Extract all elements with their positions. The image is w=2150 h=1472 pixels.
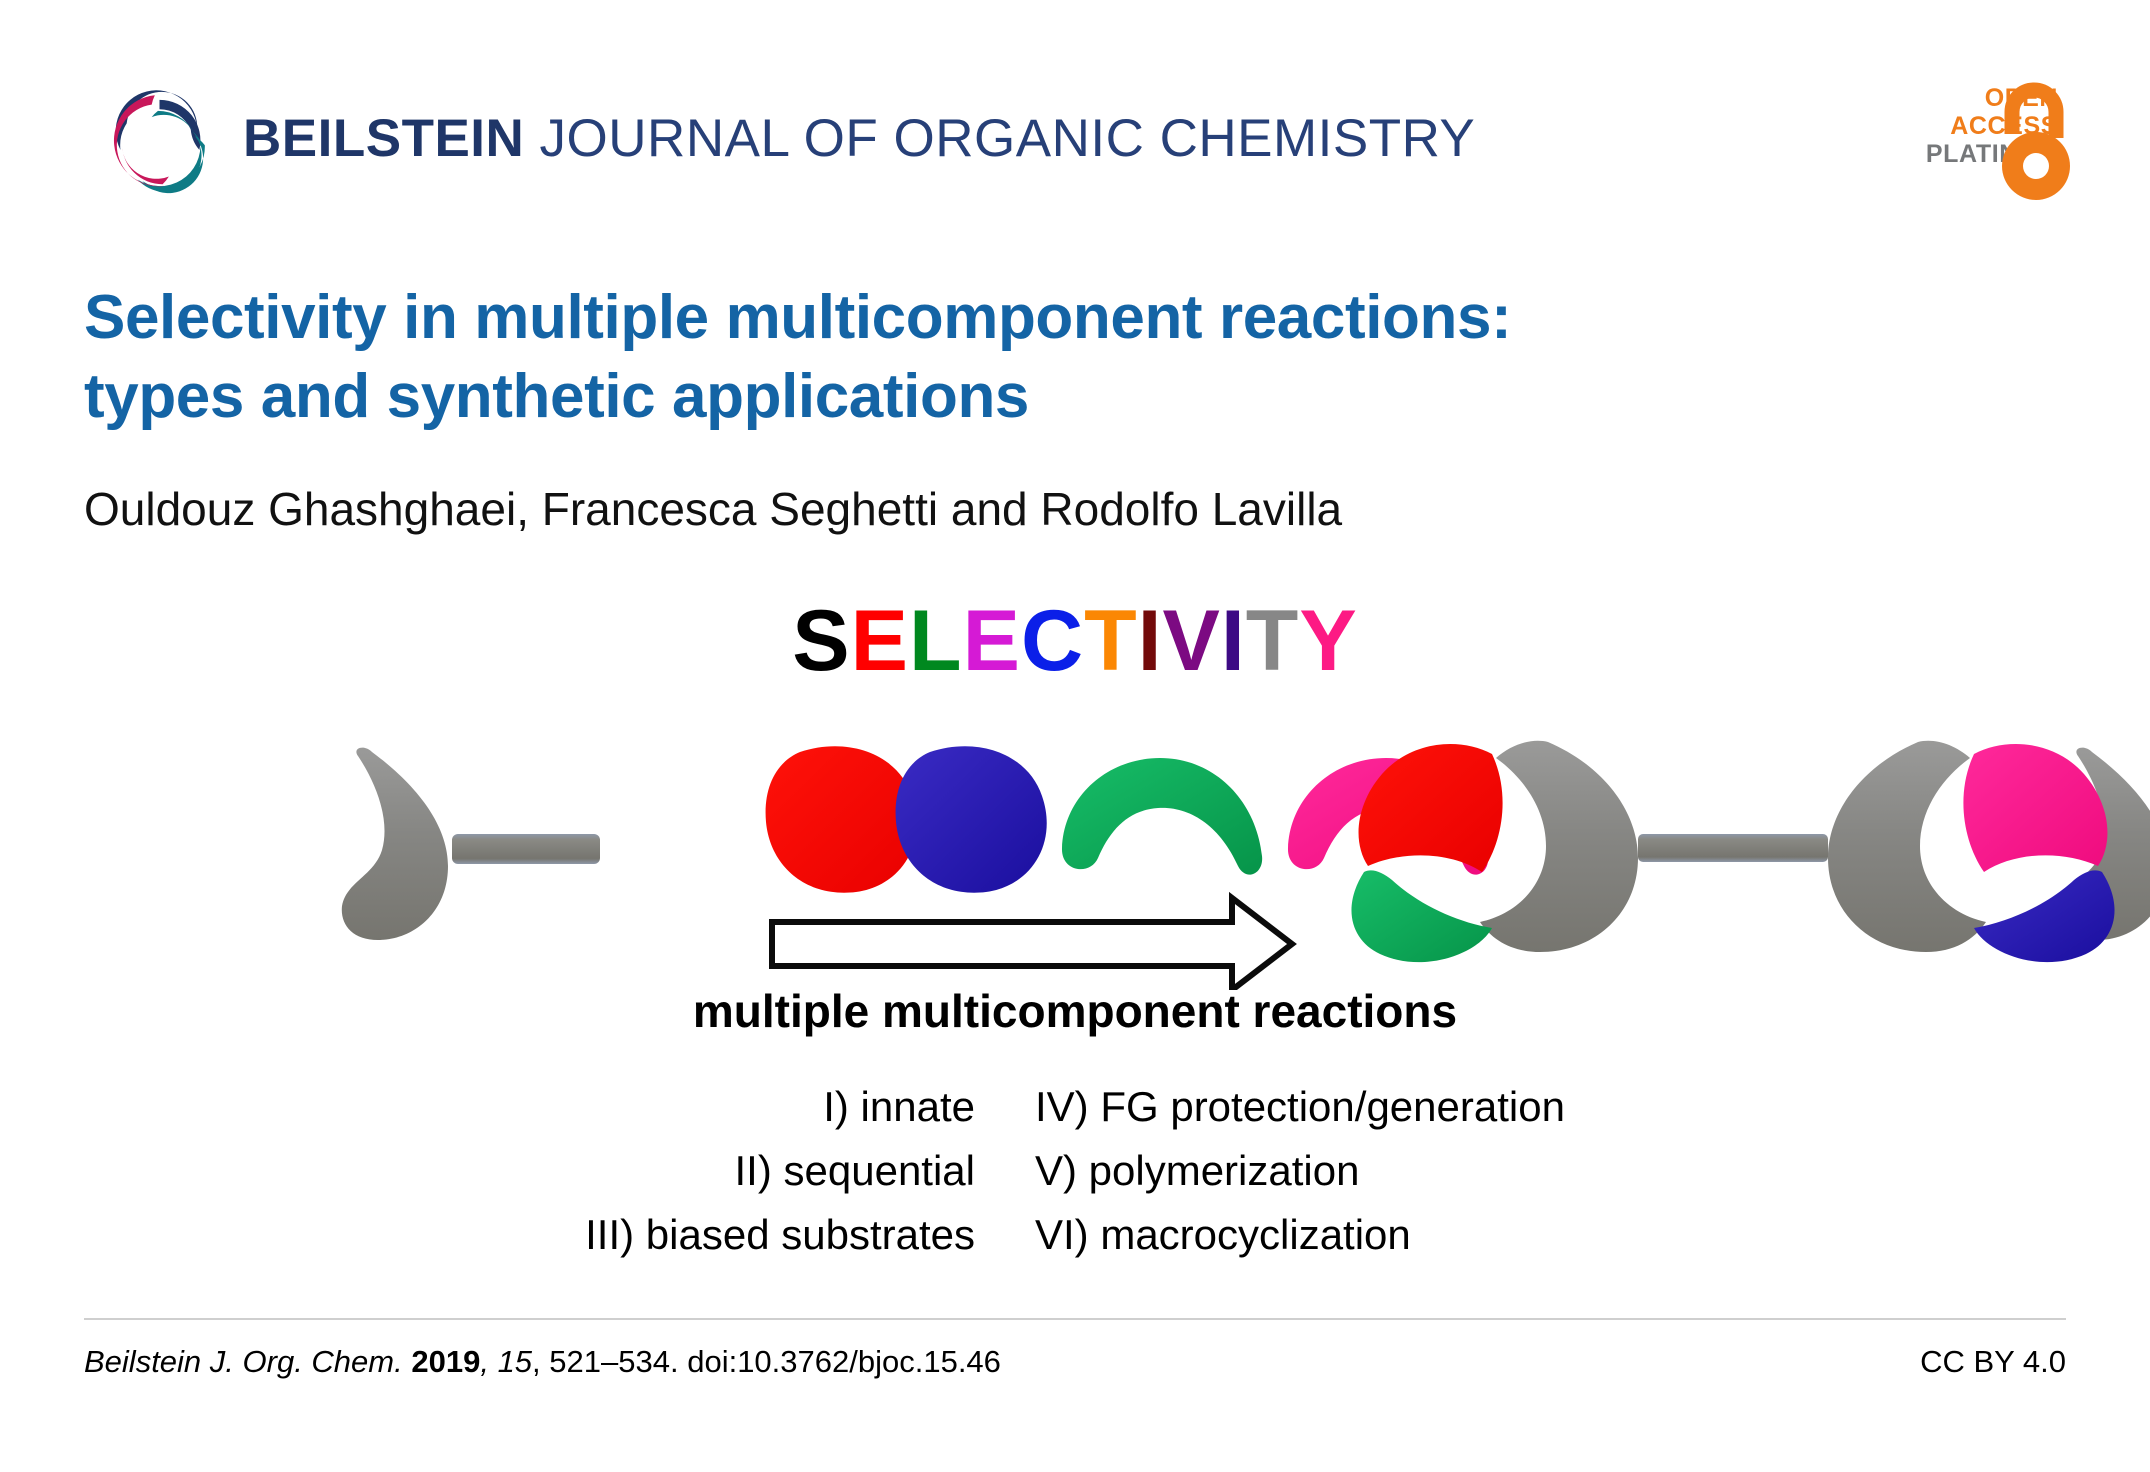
list-item: I) innate <box>823 1075 975 1139</box>
type-list-left-column: I) innate II) sequential III) biased sub… <box>555 1075 975 1266</box>
wordmark-letter-8: I <box>1221 592 1246 691</box>
reagent-blob-green <box>1062 758 1262 875</box>
wordmark-letter-7: V <box>1163 592 1221 691</box>
reaction-scheme <box>0 700 2150 990</box>
author-list: Ouldouz Ghashghaei, Francesca Seghetti a… <box>84 482 1342 536</box>
reagent-blob-red <box>766 746 917 893</box>
beilstein-logo <box>82 78 237 203</box>
wordmark-letter-10: Y <box>1299 592 1357 691</box>
list-item: V) polymerization <box>1035 1139 1359 1203</box>
selectivity-type-list: I) innate II) sequential III) biased sub… <box>0 1075 2150 1266</box>
product-bond <box>1638 834 1828 862</box>
list-item: III) biased substrates <box>585 1203 975 1267</box>
reagent-blob-blue <box>896 746 1047 893</box>
product-gray-piece-left <box>1480 741 1638 952</box>
wordmark-letter-6: I <box>1138 592 1163 691</box>
reaction-arrow <box>772 898 1292 990</box>
citation: Beilstein J. Org. Chem. 2019, 15, 521–53… <box>84 1344 1001 1380</box>
wordmark-letter-2: L <box>909 592 963 691</box>
license-label: CC BY 4.0 <box>1920 1344 2066 1380</box>
page-title: Selectivity in multiple multicomponent r… <box>84 278 1784 437</box>
crescent-left <box>342 748 448 940</box>
wordmark-letter-9: T <box>1246 592 1300 691</box>
journal-name: BEILSTEIN JOURNAL OF ORGANIC CHEMISTRY <box>243 108 1475 169</box>
substrate-bond <box>452 834 600 864</box>
journal-name-bold: BEILSTEIN <box>243 109 524 168</box>
wordmark-letter-3: E <box>963 592 1021 691</box>
citation-volume: 15 <box>498 1344 532 1379</box>
open-padlock-icon <box>1992 78 2078 206</box>
citation-journal: Beilstein J. Org. Chem. <box>84 1344 403 1379</box>
title-line-2: types and synthetic applications <box>84 357 1784 436</box>
product-sphere-left <box>1351 741 1638 962</box>
product-gray-piece-right <box>1828 741 1986 952</box>
citation-comma-2: , <box>532 1344 541 1379</box>
masthead: BEILSTEIN JOURNAL OF ORGANIC CHEMISTRY O… <box>0 0 2150 230</box>
wordmark-letter-5: T <box>1084 592 1138 691</box>
product-complex <box>1351 741 2114 962</box>
title-line-1: Selectivity in multiple multicomponent r… <box>84 278 1784 357</box>
list-item: II) sequential <box>735 1139 975 1203</box>
footer-divider <box>84 1318 2066 1320</box>
type-list-right-column: IV) FG protection/generation V) polymeri… <box>1035 1075 1595 1266</box>
selectivity-wordmark: SELECTIVITY <box>0 592 2150 691</box>
wordmark-letter-0: S <box>792 592 850 691</box>
wordmark-letter-4: C <box>1021 592 1084 691</box>
product-blue-piece <box>1974 870 2115 962</box>
list-item: IV) FG protection/generation <box>1035 1075 1565 1139</box>
product-green-piece <box>1351 870 1492 962</box>
figure-caption: multiple multicomponent reactions <box>0 984 2150 1038</box>
citation-comma-1: , <box>480 1344 489 1379</box>
citation-pages-doi: 521–534. doi:10.3762/bjoc.15.46 <box>549 1344 1001 1379</box>
wordmark-letter-1: E <box>851 592 909 691</box>
journal-name-rest: JOURNAL OF ORGANIC CHEMISTRY <box>524 109 1475 168</box>
product-sphere-right <box>1828 741 2115 962</box>
citation-year: 2019 <box>411 1344 480 1379</box>
list-item: VI) macrocyclization <box>1035 1203 1411 1267</box>
